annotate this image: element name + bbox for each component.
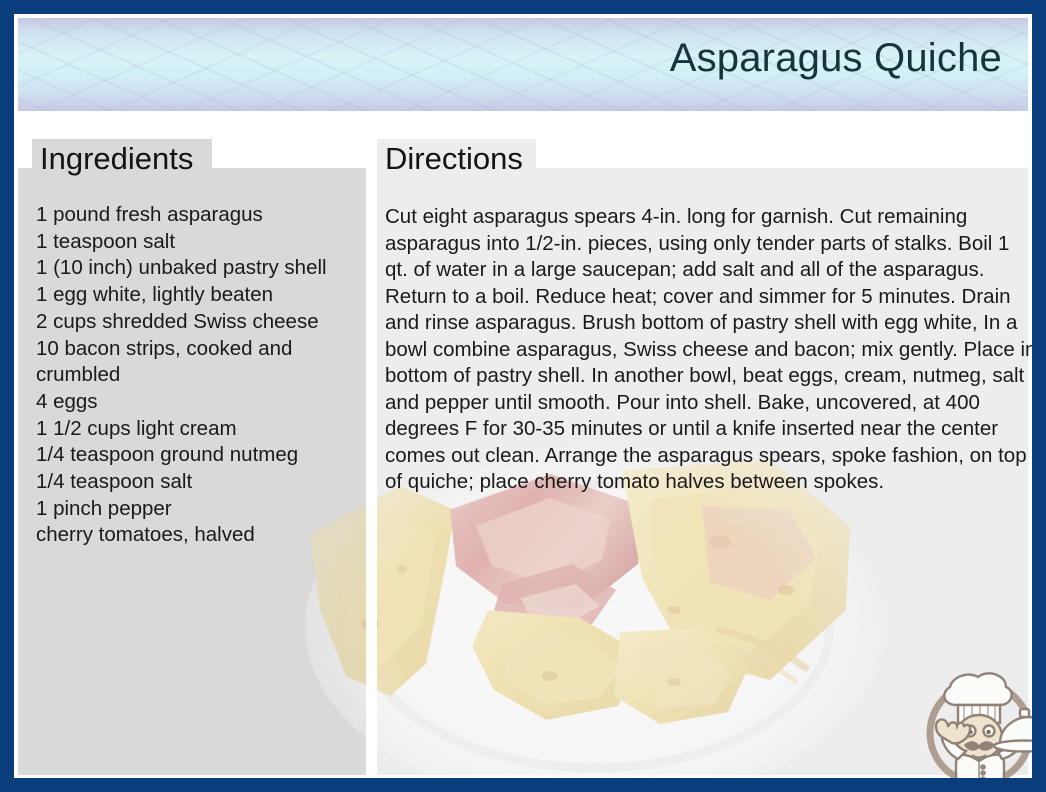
tab-ingredients: Ingredients <box>32 139 212 183</box>
tab-directions: Directions <box>377 139 536 183</box>
ingredients-list: 1 pound fresh asparagus 1 teaspoon salt … <box>36 202 358 549</box>
list-item: 1 pinch pepper <box>36 496 358 523</box>
tab-ingredients-label: Ingredients <box>40 141 193 177</box>
directions-body: Cut eight asparagus spears 4-in. long fo… <box>385 204 1037 496</box>
tab-directions-label: Directions <box>385 141 523 177</box>
list-item: 4 eggs <box>36 389 358 416</box>
header-banner: Asparagus Quiche <box>18 18 1028 111</box>
list-item: 1/4 teaspoon ground nutmeg <box>36 442 358 469</box>
list-item: 1 egg white, lightly beaten <box>36 282 358 309</box>
page-title: Asparagus Quiche <box>670 36 1002 81</box>
list-item: 2 cups shredded Swiss cheese <box>36 309 358 336</box>
list-item: 1 (10 inch) unbaked pastry shell <box>36 255 358 282</box>
list-item: cherry tomatoes, halved <box>36 522 358 549</box>
list-item: 1 1/2 cups light cream <box>36 416 358 443</box>
chef-logo-icon <box>912 659 1046 792</box>
list-item: 1 teaspoon salt <box>36 229 358 256</box>
list-item: 1 pound fresh asparagus <box>36 202 358 229</box>
list-item: 10 bacon strips, cooked and crumbled <box>36 336 358 389</box>
list-item: 1/4 teaspoon salt <box>36 469 358 496</box>
panel-divider <box>366 168 377 775</box>
recipe-card: Asparagus Quiche <box>0 0 1046 792</box>
